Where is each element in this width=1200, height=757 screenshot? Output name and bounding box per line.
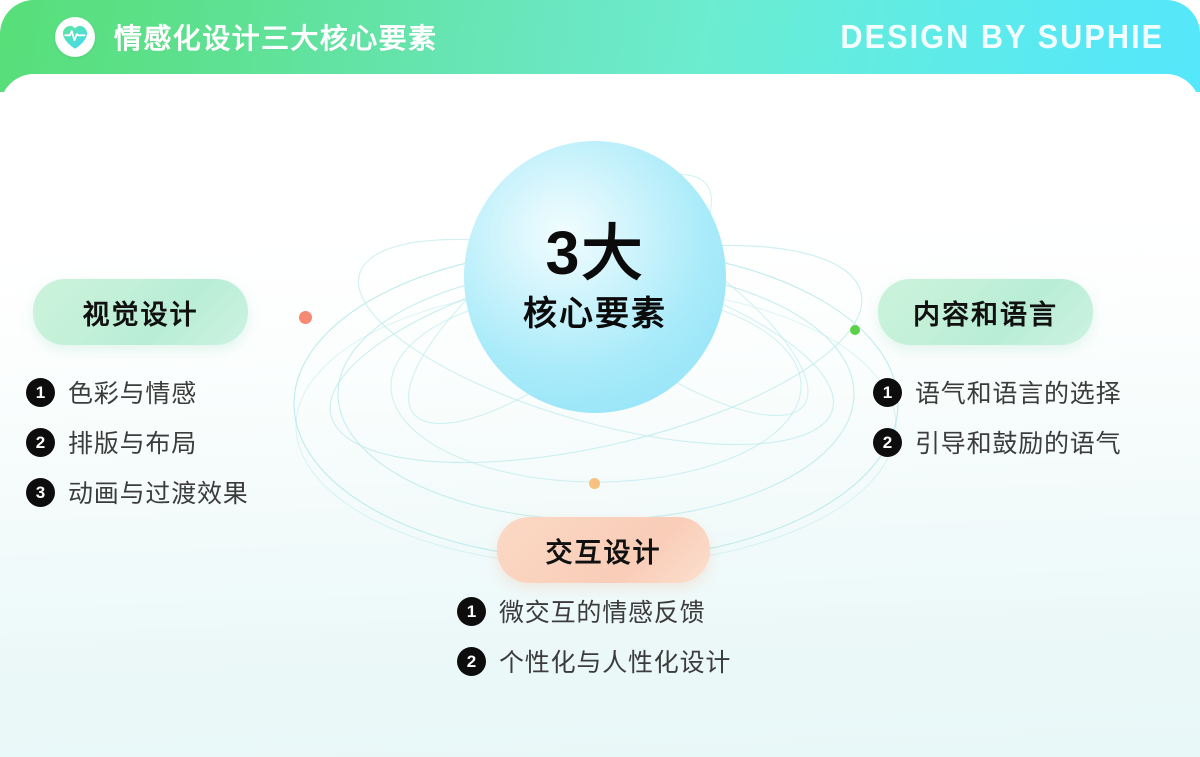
list-item: 1 微交互的情感反馈	[457, 593, 731, 629]
list-item: 2 个性化与人性化设计	[457, 643, 731, 679]
list-item-label: 微交互的情感反馈	[499, 593, 705, 629]
orbit-dot-orange	[589, 478, 600, 489]
list-number-badge: 2	[26, 428, 55, 457]
list-visual-design: 1 色彩与情感 2 排版与布局 3 动画与过渡效果	[26, 374, 249, 510]
content-panel: 3大 核心要素 视觉设计 1 色彩与情感 2 排版与布局 3 动画与过渡效果	[0, 74, 1200, 757]
sphere-subhead: 核心要素	[523, 297, 667, 331]
sphere-headline: 3大	[546, 223, 645, 284]
header-credit: DESIGN BY SUPHIE	[840, 18, 1164, 56]
heart-pulse-icon	[55, 17, 95, 57]
list-item: 2 排版与布局	[26, 424, 249, 460]
header-content: 情感化设计三大核心要素 DESIGN BY SUPHIE	[0, 0, 1200, 74]
list-interaction-design: 1 微交互的情感反馈 2 个性化与人性化设计	[457, 593, 731, 679]
list-item-label: 引导和鼓励的语气	[915, 424, 1121, 460]
orbit-dot-green	[850, 325, 860, 335]
list-item: 2 引导和鼓励的语气	[873, 424, 1121, 460]
pill-visual-design-label: 视觉设计	[83, 293, 199, 332]
list-item-label: 色彩与情感	[68, 374, 197, 410]
list-number-badge: 2	[457, 647, 486, 676]
list-item-label: 排版与布局	[68, 424, 197, 460]
list-item: 1 语气和语言的选择	[873, 374, 1121, 410]
list-item-label: 语气和语言的选择	[915, 374, 1121, 410]
list-number-badge: 1	[26, 378, 55, 407]
pill-content-language[interactable]: 内容和语言	[878, 279, 1093, 345]
list-item: 1 色彩与情感	[26, 374, 249, 410]
list-number-badge: 2	[873, 428, 902, 457]
infographic-poster: 情感化设计三大核心要素 DESIGN BY SUPHIE	[0, 0, 1200, 757]
list-item-label: 动画与过渡效果	[68, 474, 249, 510]
header-title: 情感化设计三大核心要素	[114, 17, 437, 57]
pill-content-language-label: 内容和语言	[913, 293, 1058, 332]
list-number-badge: 1	[457, 597, 486, 626]
list-item: 3 动画与过渡效果	[26, 474, 249, 510]
pill-interaction-design[interactable]: 交互设计	[497, 517, 710, 583]
list-number-badge: 3	[26, 478, 55, 507]
list-content-language: 1 语气和语言的选择 2 引导和鼓励的语气	[873, 374, 1121, 460]
pill-visual-design[interactable]: 视觉设计	[33, 279, 248, 345]
list-item-label: 个性化与人性化设计	[499, 643, 731, 679]
pill-interaction-design-label: 交互设计	[546, 531, 662, 570]
center-sphere: 3大 核心要素	[464, 141, 726, 413]
orbit-dot-coral	[299, 311, 312, 324]
list-number-badge: 1	[873, 378, 902, 407]
